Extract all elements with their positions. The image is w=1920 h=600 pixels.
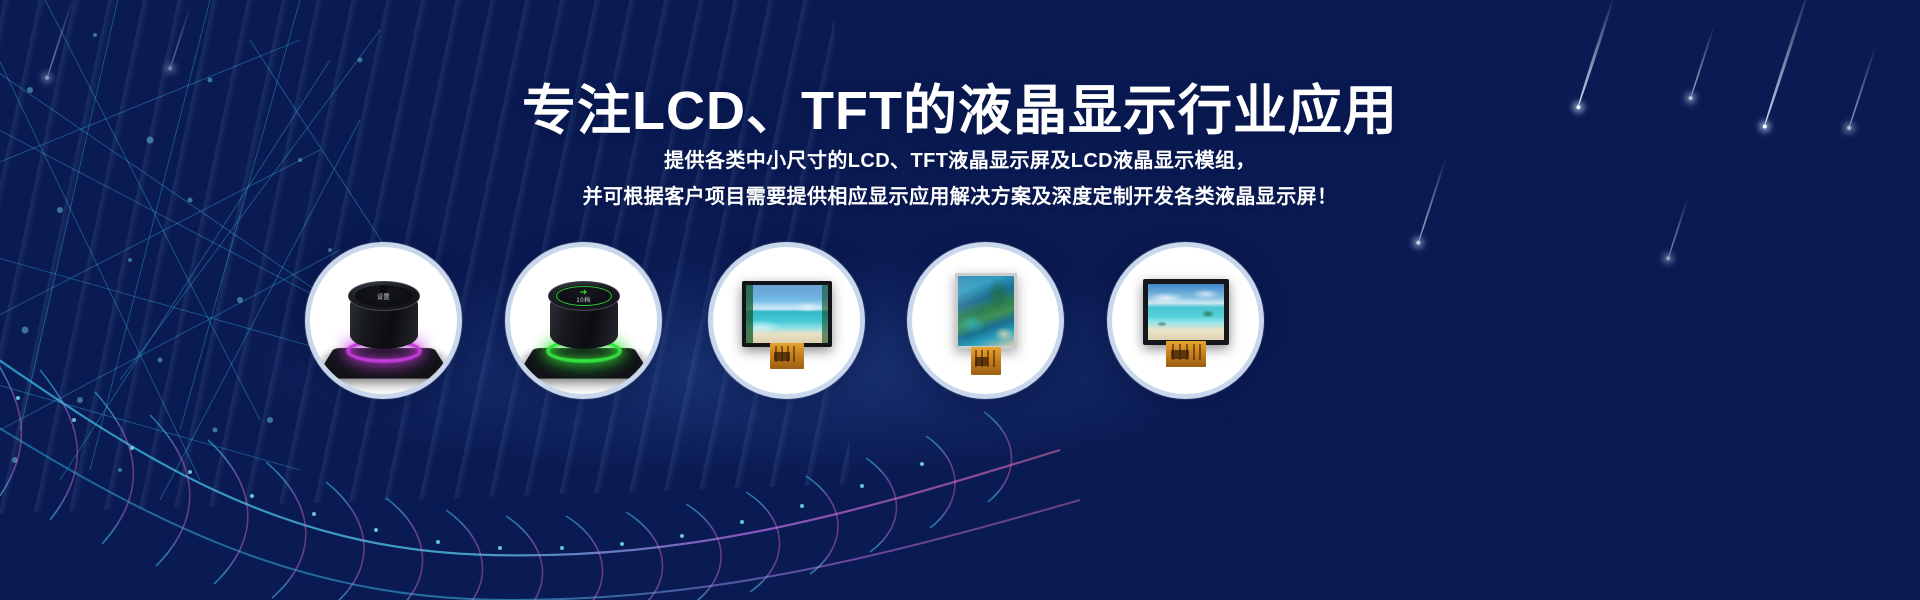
product-circle-tft-lcd-pool-portrait[interactable] — [907, 242, 1064, 399]
product-circle-tft-lcd-beach-wide[interactable] — [708, 242, 865, 399]
fpc-ribbon-cable — [971, 347, 1001, 375]
panel-bezel — [742, 281, 832, 347]
fpc-ribbon-cable — [770, 343, 804, 369]
fpc-ribbon-cable — [1166, 341, 1206, 367]
page-title: 专注LCD、TFT的液晶显示行业应用 — [0, 66, 1920, 145]
product-circle-smart-speaker-purple[interactable]: ✿ 设置 · · · · — [305, 242, 462, 399]
product-circle-smart-speaker-green[interactable]: ➔ 10档 — [505, 242, 662, 399]
panel-screen-image — [958, 276, 1014, 346]
panel-screen-image — [746, 285, 828, 343]
panel-screen-image — [1148, 284, 1224, 340]
flower-icon: ✿ — [380, 285, 388, 294]
subtitle-line-2: 并可根据客户项目需要提供相应显示应用解决方案及深度定制开发各类液晶显示屏！ — [0, 180, 1920, 209]
speaker-display: ✿ 设置 · · · · — [355, 285, 413, 307]
speaker-display: ➔ 10档 — [555, 285, 613, 307]
hero-banner: 专注LCD、TFT的液晶显示行业应用 提供各类中小尺寸的LCD、TFT液晶显示屏… — [0, 0, 1920, 600]
speaker-display-dots: · · · · — [372, 302, 395, 307]
product-circle-tft-lcd-beach-black-bezel[interactable] — [1107, 242, 1264, 399]
subtitle-line-1: 提供各类中小尺寸的LCD、TFT液晶显示屏及LCD液晶显示模组， — [0, 144, 1920, 173]
progress-ring-icon — [556, 286, 612, 306]
speaker-display-label: 设置 — [377, 295, 390, 302]
panel-bezel — [1143, 279, 1229, 345]
lcd-panel — [955, 273, 1017, 349]
panel-bezel — [955, 273, 1017, 349]
lcd-panel — [1143, 279, 1229, 345]
lcd-panel — [742, 281, 832, 347]
